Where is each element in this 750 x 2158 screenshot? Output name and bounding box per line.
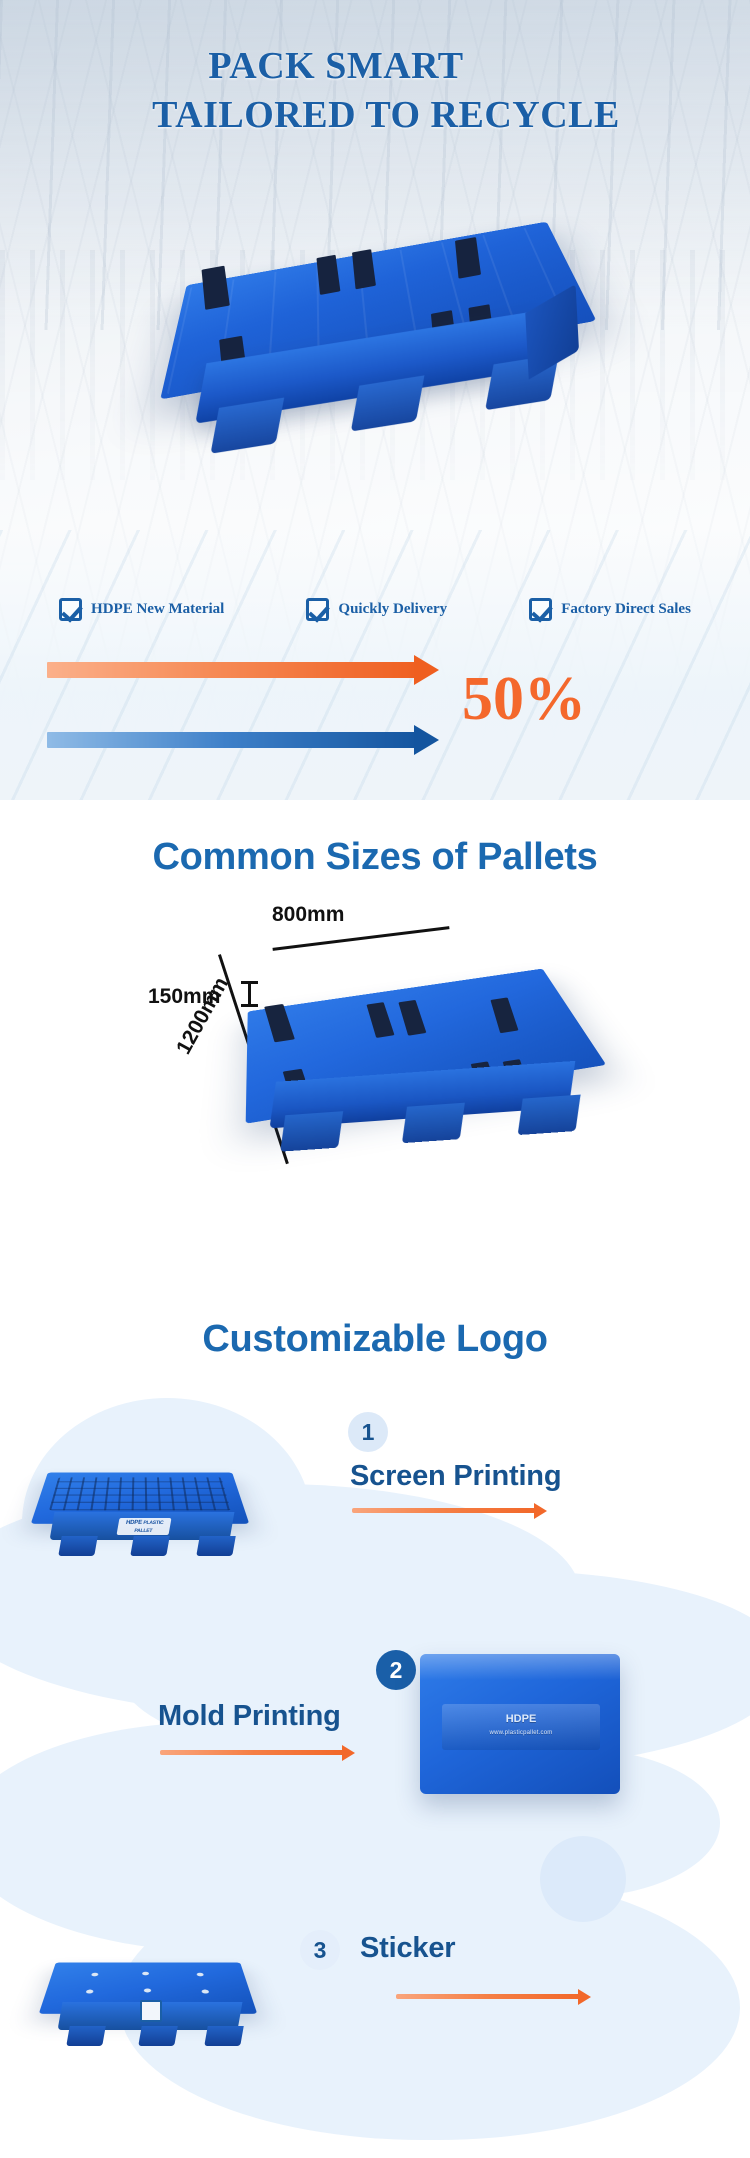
customizable-logo-section: Customizable Logo HDPE PLASTIC PALLET 1 … bbox=[0, 1270, 750, 2158]
printed-brand-mark: HDPE PLASTIC PALLET bbox=[117, 1518, 172, 1535]
pallet-foot bbox=[204, 2026, 244, 2046]
emboss-top-text: HDPE bbox=[506, 1713, 537, 1725]
section-title-customizable-logo: Customizable Logo bbox=[0, 1270, 750, 1361]
blue-arrow-icon bbox=[47, 732, 419, 748]
logo-option-row: HDPE PLASTIC PALLET 1 Screen Printing bbox=[0, 1390, 750, 1620]
orange-arrow-icon bbox=[160, 1750, 344, 1755]
logo-option-row: 3 Sticker bbox=[0, 1882, 750, 2112]
orange-arrow-icon bbox=[396, 1994, 580, 1999]
feature-label: Factory Direct Sales bbox=[561, 601, 691, 618]
feature-label: HDPE New Material bbox=[91, 601, 224, 618]
common-sizes-section: Common Sizes of Pallets 800mm 150mm 1200… bbox=[0, 800, 750, 1270]
pallet-foot bbox=[196, 1536, 236, 1556]
feature-list: HDPE New Material Quickly Delivery Facto… bbox=[0, 598, 750, 621]
pallet-foot bbox=[138, 2026, 178, 2046]
pallet-foot bbox=[58, 1536, 98, 1556]
option-number-badge-1: 1 bbox=[348, 1412, 388, 1452]
percent-highlight: 50% bbox=[462, 668, 586, 730]
option-label-mold-printing: Mold Printing bbox=[158, 1700, 341, 1733]
growth-arrows-block: 50% bbox=[0, 648, 750, 758]
hero-headline: PACK SMART TAILORED TO RECYCLE bbox=[0, 42, 750, 139]
emboss-bottom-text: www.plasticpallet.com bbox=[442, 1726, 600, 1740]
checkbox-checked-icon bbox=[306, 598, 329, 621]
hero-banner: PACK SMART TAILORED TO RECYCLE HDPE New … bbox=[0, 0, 750, 800]
pallet-mesh-grid bbox=[49, 1477, 231, 1510]
molded-brand-mark: HDPE www.plasticpallet.com bbox=[442, 1704, 600, 1750]
dimension-label-width: 800mm bbox=[272, 903, 344, 927]
pallet-dimension-diagram: 800mm 150mm 1200mm bbox=[0, 897, 750, 1237]
pallet-foot bbox=[66, 2026, 106, 2046]
feature-label: Quickly Delivery bbox=[338, 601, 447, 618]
checkbox-checked-icon bbox=[529, 598, 552, 621]
pallet-surface-dots bbox=[75, 1970, 221, 1995]
feature-item: Quickly Delivery bbox=[306, 598, 447, 621]
hero-headline-line-1: PACK SMART bbox=[0, 42, 750, 91]
feature-item: Factory Direct Sales bbox=[529, 598, 691, 621]
screen-printing-pallet-image: HDPE PLASTIC PALLET bbox=[40, 1440, 260, 1560]
option-label-sticker: Sticker bbox=[360, 1932, 455, 1965]
pallet-anti-slip-strip bbox=[202, 266, 230, 310]
sticker-pallet-image bbox=[48, 1930, 268, 2050]
hero-headline-line-2: TAILORED TO RECYCLE bbox=[22, 91, 750, 140]
orange-arrow-icon bbox=[47, 662, 419, 678]
pallet-foot bbox=[280, 1111, 343, 1151]
brand-top-text: HDPE bbox=[125, 1520, 142, 1526]
pallet-foot bbox=[130, 1536, 170, 1556]
option-number-badge-3: 3 bbox=[300, 1930, 340, 1970]
pallet-foot bbox=[402, 1103, 465, 1143]
logo-option-row: 2 Mold Printing HDPE www.plasticpallet.c… bbox=[0, 1638, 750, 1868]
pallet-isometric-image bbox=[242, 933, 617, 1188]
orange-arrow-icon bbox=[352, 1508, 536, 1513]
option-number-badge-2: 2 bbox=[376, 1650, 416, 1690]
checkbox-checked-icon bbox=[59, 598, 82, 621]
option-label-screen-printing: Screen Printing bbox=[350, 1460, 561, 1493]
sticker-label bbox=[140, 2000, 162, 2022]
feature-item: HDPE New Material bbox=[59, 598, 224, 621]
pallet-foot bbox=[518, 1095, 581, 1135]
mold-printing-closeup-image: HDPE www.plasticpallet.com bbox=[420, 1654, 620, 1794]
section-title-common-sizes: Common Sizes of Pallets bbox=[0, 800, 750, 879]
